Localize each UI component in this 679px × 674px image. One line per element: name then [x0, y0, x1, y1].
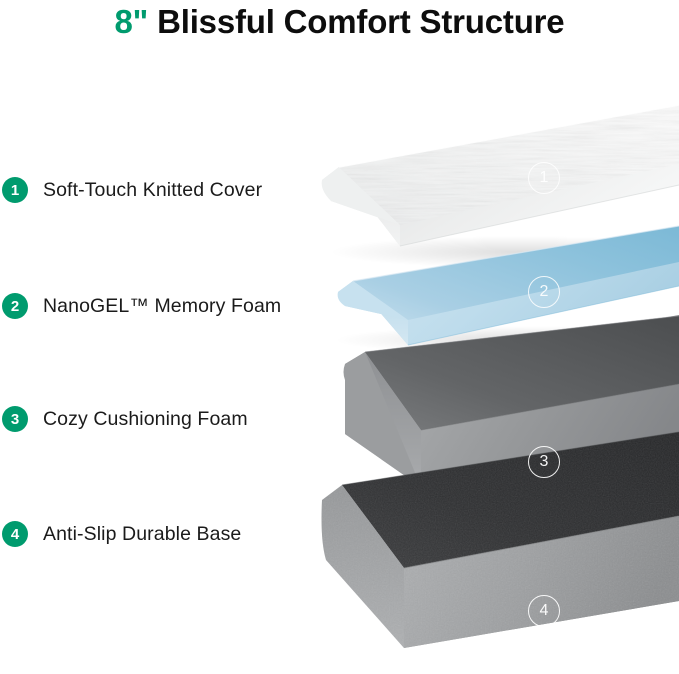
slab-badge-1: 1	[528, 162, 560, 194]
legend-badge-2: 2	[2, 293, 28, 319]
slab-badge-3-label: 3	[540, 454, 549, 470]
layer-3-cozy-cushioning-foam	[344, 315, 679, 487]
slab-shadows	[330, 236, 679, 501]
layer-1-soft-touch-knitted-cover	[322, 105, 679, 246]
layer-2-nanogel-memory-foam	[338, 226, 679, 345]
legend-badge-2-number: 2	[11, 299, 19, 314]
legend-badge-4: 4	[2, 521, 28, 547]
legend-item-4: 4 Anti-Slip Durable Base	[0, 519, 241, 549]
page-title: 8" Blissful Comfort Structure	[0, 0, 679, 41]
legend-label-3: Cozy Cushioning Foam	[43, 408, 248, 431]
legend-label-2: NanoGEL™ Memory Foam	[43, 295, 281, 318]
slab-badge-1-label: 1	[540, 170, 549, 186]
slab-badge-4-label: 4	[540, 603, 549, 619]
legend-item-2: 2 NanoGEL™ Memory Foam	[0, 291, 281, 321]
slab-badge-2: 2	[528, 276, 560, 308]
product-infographic: 8" Blissful Comfort Structure	[0, 0, 679, 674]
legend-label-1: Soft-Touch Knitted Cover	[43, 179, 262, 202]
legend-badge-4-number: 4	[11, 527, 19, 542]
legend-item-3: 3 Cozy Cushioning Foam	[0, 404, 248, 434]
legend-badge-1-number: 1	[11, 183, 19, 198]
title-text: Blissful Comfort Structure	[157, 3, 564, 40]
slab-badge-3: 3	[528, 446, 560, 478]
layer-stack-illustration: 1 2 3 4	[0, 0, 679, 674]
layer-4-anti-slip-durable-base	[322, 432, 679, 648]
title-text-spacer	[148, 3, 157, 40]
title-size: 8"	[115, 3, 149, 40]
legend-item-1: 1 Soft-Touch Knitted Cover	[0, 175, 262, 205]
slab-badge-4: 4	[528, 595, 560, 627]
legend-label-4: Anti-Slip Durable Base	[43, 523, 241, 546]
legend-badge-1: 1	[2, 177, 28, 203]
slab-badge-2-label: 2	[540, 284, 549, 300]
legend-badge-3-number: 3	[11, 412, 19, 427]
legend-badge-3: 3	[2, 406, 28, 432]
